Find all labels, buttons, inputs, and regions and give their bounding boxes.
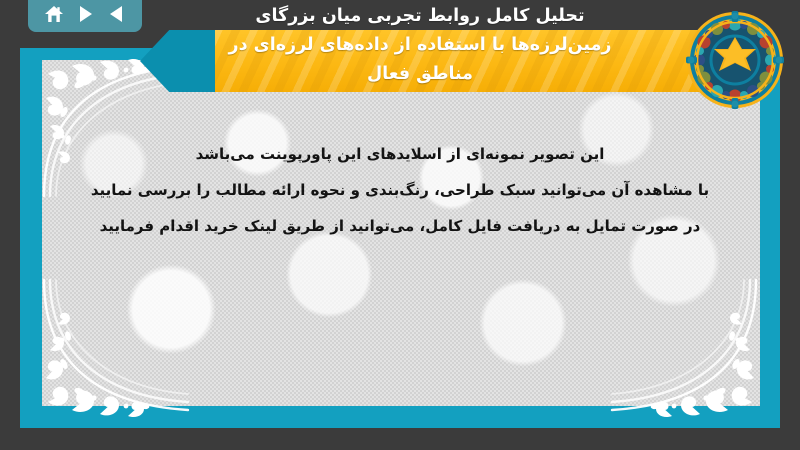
title-line-1: تحلیل کامل روابط تجربی میان بزرگای xyxy=(150,2,690,31)
home-button[interactable] xyxy=(41,2,67,26)
slide-stage: این تصویر نمونه‌ای از اسلایدهای این پاور… xyxy=(0,0,800,450)
forward-arrow-icon xyxy=(78,5,93,23)
body-line-1: این تصویر نمونه‌ای از اسلایدهای این پاور… xyxy=(60,136,740,172)
body-line-2: با مشاهده آن می‌توانید سبک طراحی، رنگ‌بن… xyxy=(60,172,740,208)
home-icon xyxy=(44,5,64,24)
slide-frame: این تصویر نمونه‌ای از اسلایدهای این پاور… xyxy=(20,48,780,428)
back-arrow-icon xyxy=(109,5,124,23)
title-banner xyxy=(215,30,735,92)
persian-medallion-ornament xyxy=(683,8,787,112)
forward-button[interactable] xyxy=(72,2,98,26)
body-line-3: در صورت تمایل به دریافت فایل کامل، می‌تو… xyxy=(60,208,740,244)
slide-body-text: این تصویر نمونه‌ای از اسلایدهای این پاور… xyxy=(60,136,740,244)
navigation-bar xyxy=(28,0,142,32)
back-button[interactable] xyxy=(103,2,129,26)
